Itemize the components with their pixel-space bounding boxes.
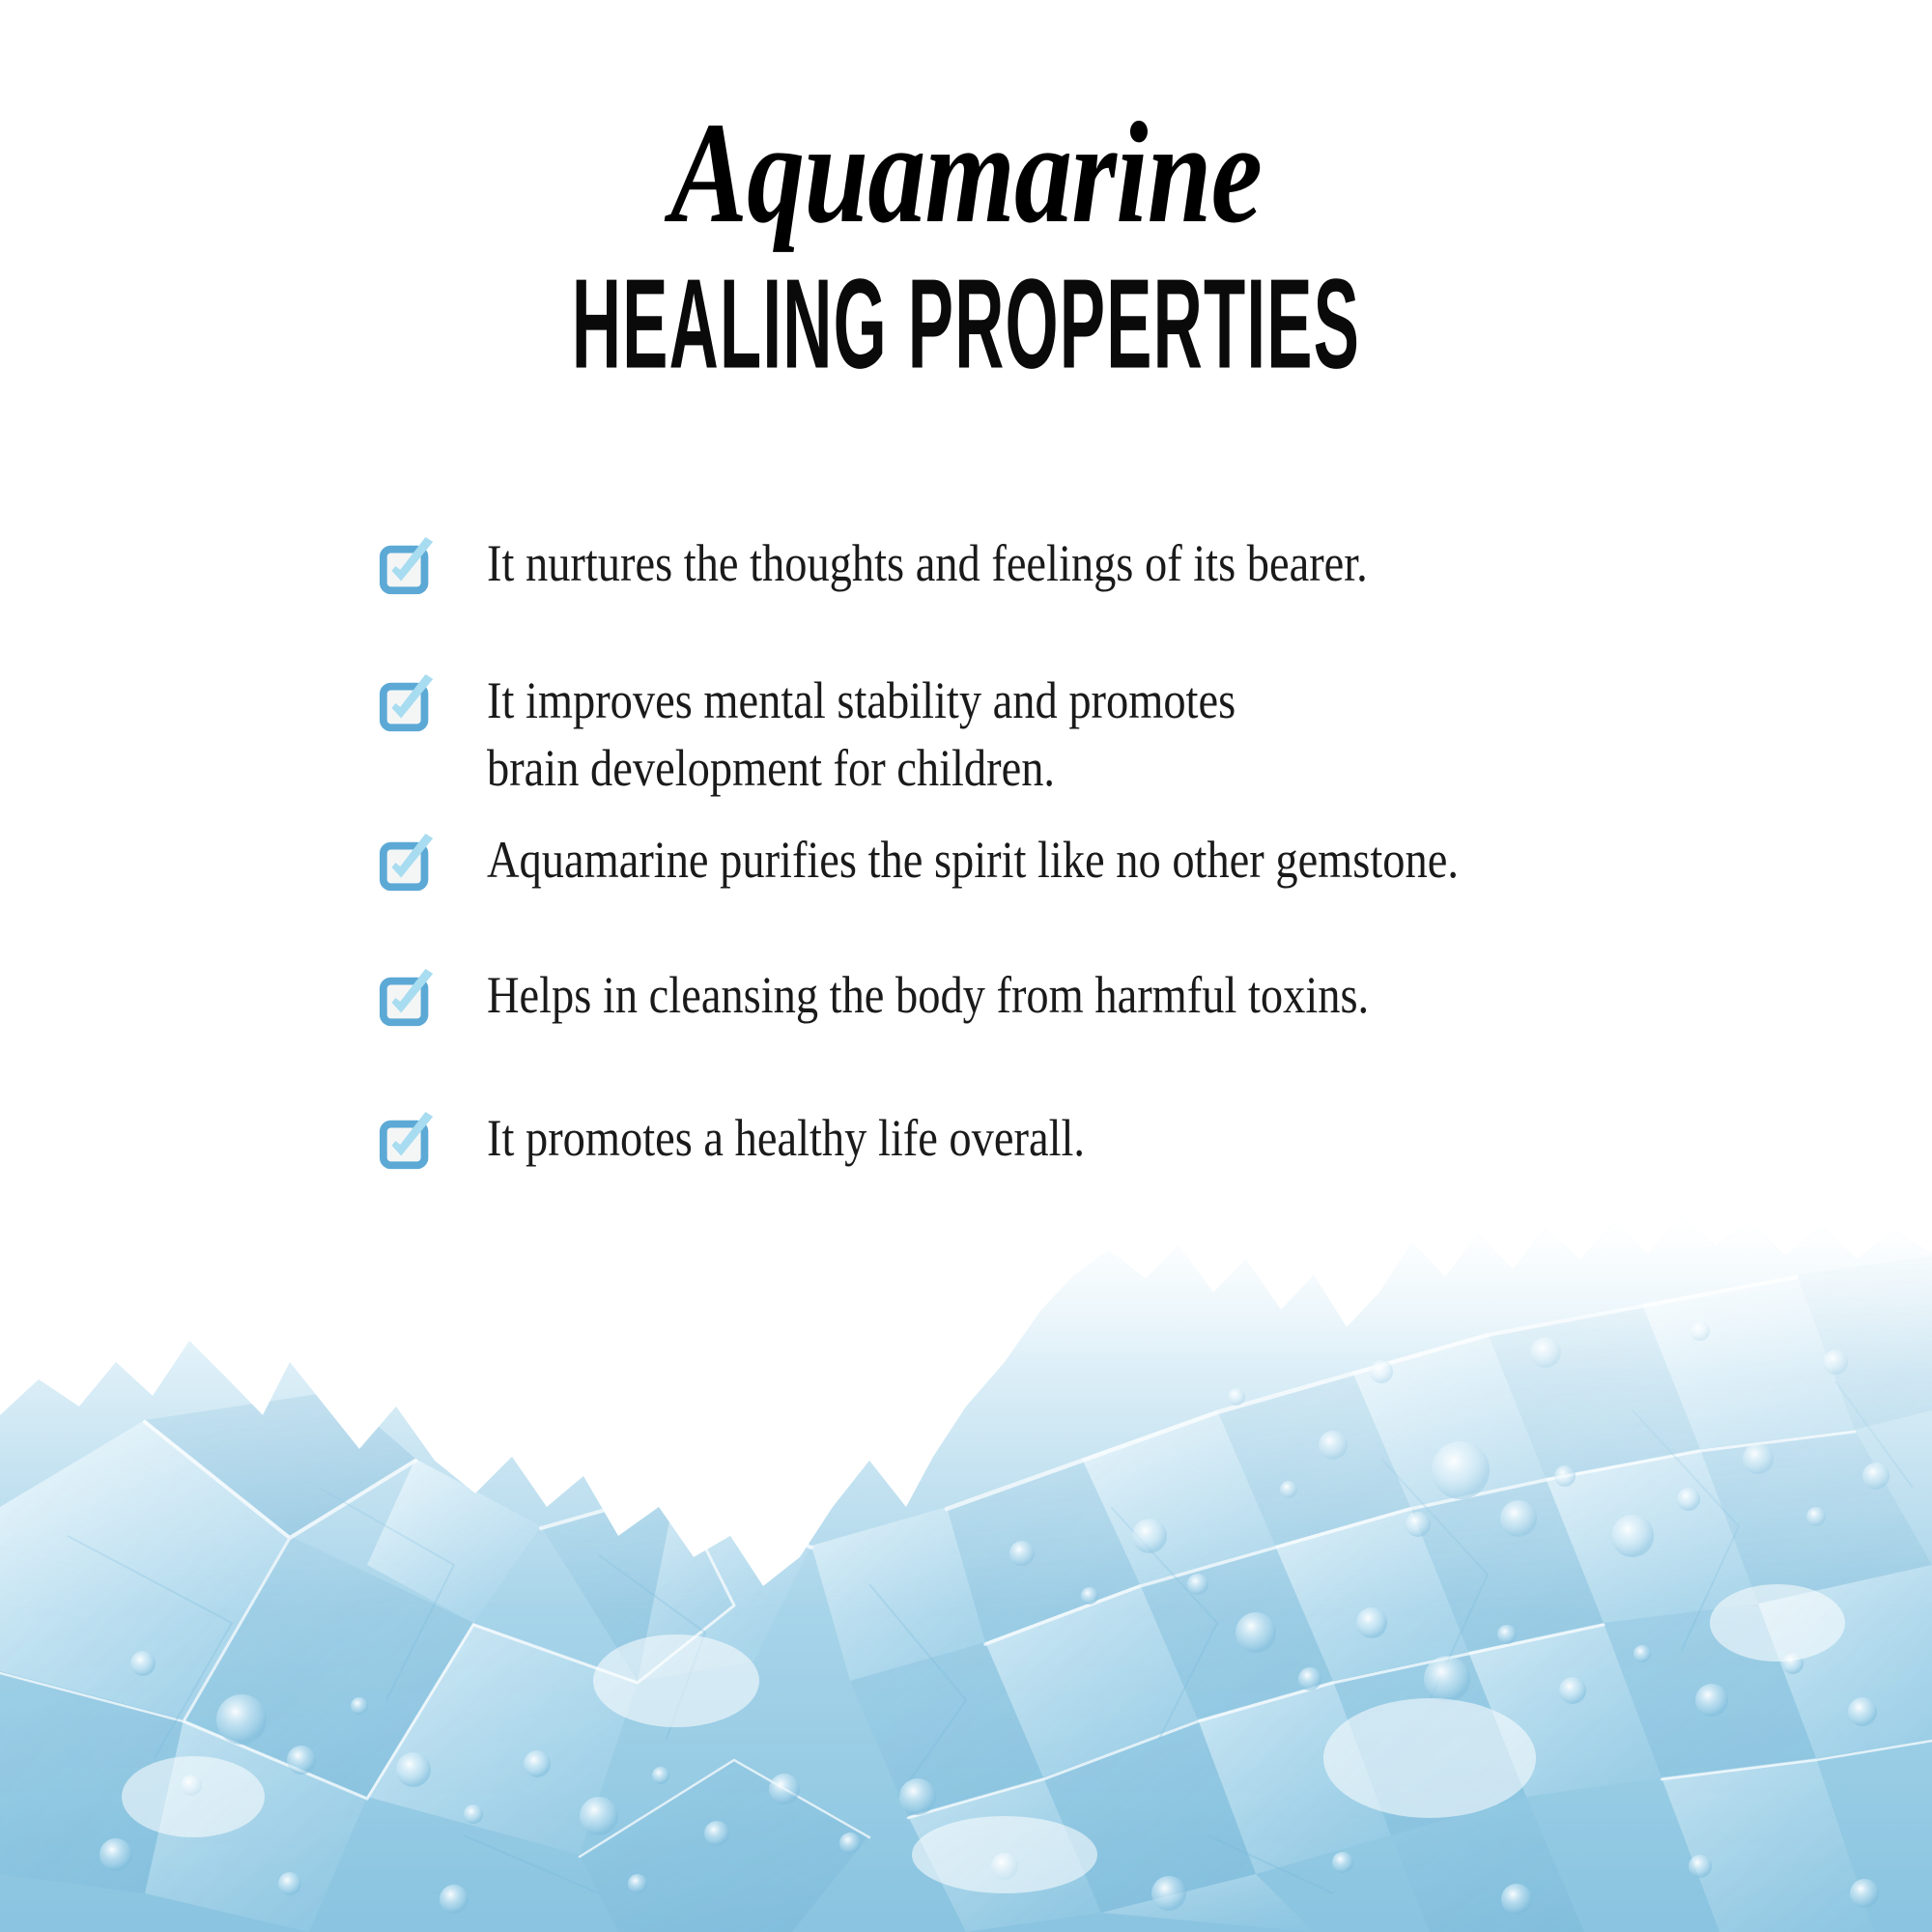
ice-cubes-photo bbox=[0, 1217, 1932, 1932]
list-item-label: Aquamarine purifies the spirit like no o… bbox=[487, 826, 1640, 894]
list-item-label: It nurtures the thoughts and feelings of… bbox=[487, 529, 1640, 597]
checkbox-checked-icon bbox=[379, 1112, 439, 1172]
poster-header: Aquamarine HEALING PROPERTIES bbox=[0, 0, 1932, 373]
list-item-label: It promotes a healthy life overall. bbox=[487, 1104, 1640, 1172]
poster-canvas: Aquamarine HEALING PROPERTIES It nurture… bbox=[0, 0, 1932, 1932]
list-item-label: Helps in cleansing the body from harmful… bbox=[487, 961, 1640, 1029]
checkbox-checked-icon bbox=[379, 537, 439, 597]
list-item: It promotes a healthy life overall. bbox=[379, 1104, 1828, 1172]
list-item: Helps in cleansing the body from harmful… bbox=[379, 961, 1828, 1029]
page-subtitle: HEALING PROPERTIES bbox=[386, 245, 1546, 388]
list-item: It nurtures the thoughts and feelings of… bbox=[379, 529, 1828, 597]
list-item: Aquamarine purifies the spirit like no o… bbox=[379, 826, 1828, 894]
list-item: It improves mental stability and promote… bbox=[379, 667, 1828, 802]
list-item-label: It improves mental stability and promote… bbox=[487, 667, 1640, 802]
checkbox-checked-icon bbox=[379, 674, 439, 734]
healing-properties-list: It nurtures the thoughts and feelings of… bbox=[379, 529, 1828, 1172]
checkbox-checked-icon bbox=[379, 834, 439, 894]
checkbox-checked-icon bbox=[379, 969, 439, 1029]
page-title: Aquamarine bbox=[193, 0, 1739, 245]
